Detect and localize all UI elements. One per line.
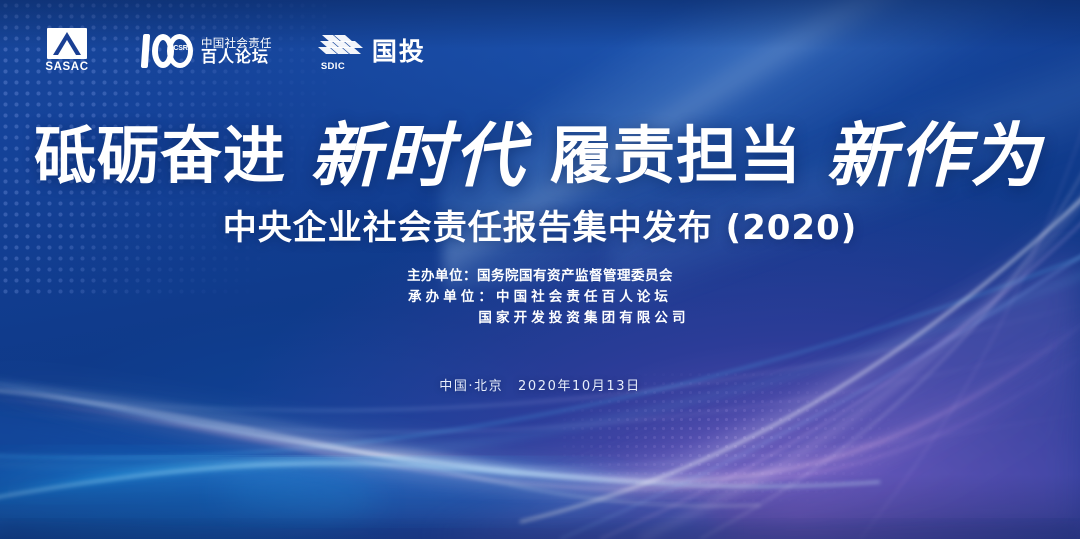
organizer-line-co-host: 承办单位：中国社会责任百人论坛: [0, 287, 1080, 308]
sdic-chevron-icon: SDIC: [318, 31, 364, 71]
headline: 砥砺奋进新时代履责担当新作为: [0, 120, 1080, 192]
csr-badge-text: CSR: [172, 45, 189, 52]
organizer-line-co-host-2: 国家开发投资集团有限公司: [0, 308, 1080, 329]
headline-part-3: 履责担当: [550, 119, 802, 192]
sdic-wordmark: SDIC: [321, 61, 345, 72]
sasac-wordmark: SASAC: [45, 61, 88, 74]
headline-part-1: 砥砺奋进: [34, 119, 286, 192]
sasac-mountain-icon: [47, 28, 87, 59]
logo-bar: SASAC CSR 中国社会责任 百人论坛: [40, 26, 426, 76]
dateline: 中国·北京 2020年10月13日: [0, 378, 1080, 396]
subtitle: 中央企业社会责任报告集中发布 (2020): [0, 207, 1080, 249]
numeral-one-stroke: [141, 34, 150, 68]
poster-banner: SASAC CSR 中国社会责任 百人论坛: [0, 0, 1080, 539]
csr-forum-line2: 百人论坛: [201, 49, 272, 66]
organizer-line-host: 主办单位：国务院国有资产监督管理委员会: [0, 266, 1080, 287]
organizer-block: 主办单位：国务院国有资产监督管理委员会 承办单位：中国社会责任百人论坛 国家开发…: [0, 266, 1080, 329]
csr-forum-text: 中国社会责任 百人论坛: [201, 37, 272, 66]
logo-sasac: SASAC: [40, 28, 94, 74]
headline-part-4: 新作为: [822, 114, 1046, 197]
headline-part-2: 新时代: [306, 114, 530, 197]
sdic-chinese-name: 国投: [372, 39, 426, 64]
logo-sdic: SDIC 国投: [318, 31, 426, 71]
csr-hundred-icon: CSR: [142, 32, 194, 70]
logo-csr-hundred-forum: CSR 中国社会责任 百人论坛: [142, 32, 272, 70]
